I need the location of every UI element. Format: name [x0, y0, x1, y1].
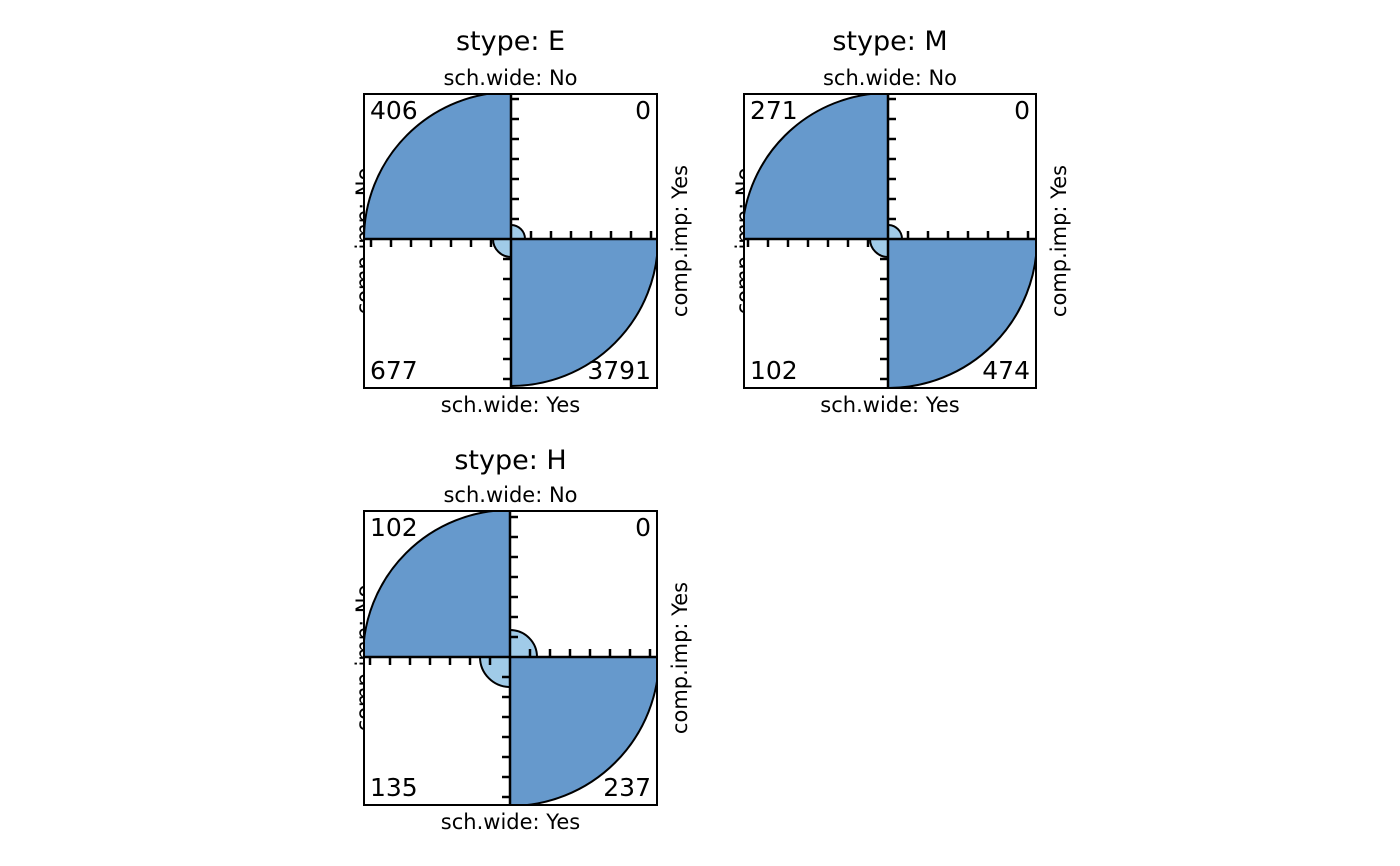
panel-H: stype: Hsch.wide: Nosch.wide: Yescomp.im…	[0, 0, 1400, 866]
sector-M-top_right	[888, 225, 902, 239]
figure-canvas: stype: Esch.wide: Nosch.wide: Yescomp.im…	[0, 0, 1400, 866]
plot-frame-E	[364, 94, 657, 388]
panel-top-label-H: sch.wide: No	[363, 485, 658, 506]
fourfold-sectors-M	[743, 93, 1037, 389]
count-bottom-left-H: 135	[370, 775, 418, 800]
panel-top-label-M: sch.wide: No	[743, 68, 1037, 89]
count-top-right-E: 0	[363, 98, 651, 123]
count-top-left-M: 271	[750, 98, 798, 123]
sector-E-bottom_right	[511, 239, 658, 386]
panel-bottom-label-H: sch.wide: Yes	[363, 812, 658, 833]
axis-ticks-H	[370, 517, 650, 797]
fourfold-sectors-H	[363, 510, 658, 806]
panel-bottom-label-M: sch.wide: Yes	[743, 395, 1037, 416]
sector-H-top_right	[510, 630, 537, 657]
plot-area-H	[363, 510, 658, 806]
panel-bottom-label-E: sch.wide: Yes	[363, 395, 658, 416]
fourfold-sectors-E	[363, 93, 658, 389]
sector-M-bottom_right	[888, 239, 1037, 388]
sector-H-bottom_left	[480, 657, 510, 687]
panel-right-label-H: comp.imp: Yes	[670, 510, 691, 806]
sector-M-bottom_left	[870, 239, 888, 257]
panel-right-label-E: comp.imp: Yes	[670, 93, 691, 389]
panel-right-label-M: comp.imp: Yes	[1049, 93, 1070, 389]
count-top-right-M: 0	[743, 98, 1030, 123]
panel-E: stype: Esch.wide: Nosch.wide: Yescomp.im…	[0, 0, 1400, 866]
sector-H-bottom_right	[510, 657, 658, 806]
count-top-left-E: 406	[370, 98, 418, 123]
count-bottom-right-H: 237	[363, 775, 651, 800]
sector-E-top_right	[511, 225, 525, 239]
panel-title-M: stype: M	[743, 28, 1037, 55]
panel-left-label-H: comp.imp: No	[354, 510, 375, 806]
axis-ticks-M	[748, 99, 1028, 379]
count-bottom-right-E: 3791	[363, 358, 651, 383]
axis-ticks-E	[371, 99, 651, 379]
plot-area-E	[363, 93, 658, 389]
plot-area-M	[743, 93, 1037, 389]
sector-E-top_left	[364, 93, 511, 239]
count-bottom-right-M: 474	[743, 358, 1030, 383]
count-bottom-left-E: 677	[370, 358, 418, 383]
panel-left-label-E: comp.imp: No	[354, 93, 375, 389]
sector-E-bottom_left	[493, 239, 511, 257]
count-top-right-H: 0	[363, 515, 651, 540]
sector-H-top_left	[363, 510, 510, 657]
panel-title-E: stype: E	[363, 28, 658, 55]
count-top-left-H: 102	[370, 515, 418, 540]
sector-M-top_left	[743, 93, 888, 239]
panel-title-H: stype: H	[363, 447, 658, 474]
panel-left-label-M: comp.imp: No	[734, 93, 755, 389]
count-bottom-left-M: 102	[750, 358, 798, 383]
panel-top-label-E: sch.wide: No	[363, 68, 658, 89]
panel-M: stype: Msch.wide: Nosch.wide: Yescomp.im…	[0, 0, 1400, 866]
plot-frame-H	[364, 511, 657, 805]
plot-frame-M	[744, 94, 1036, 388]
